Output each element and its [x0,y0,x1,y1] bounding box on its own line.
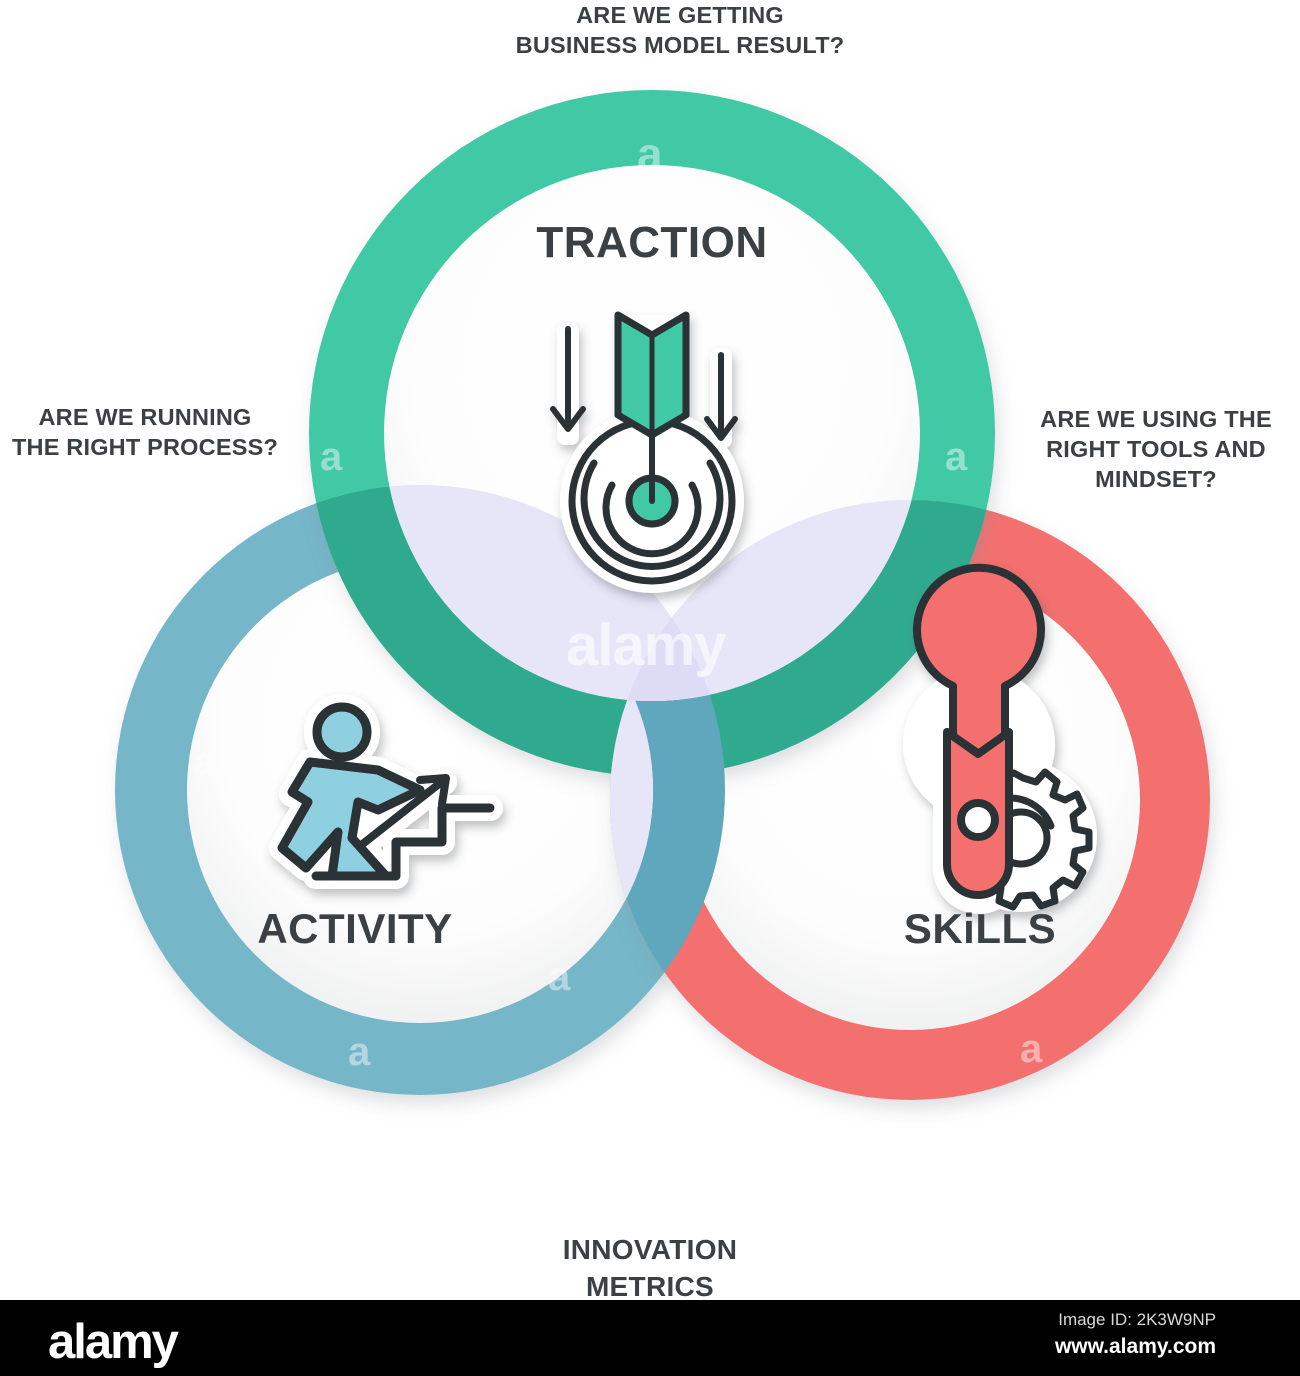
svg-text:a: a [548,955,571,999]
venn-diagram-page: a a a a a a a a a a a alamy [0,0,1300,1376]
venn-diagram-graphic: a a a a a a a a a a a alamy [0,0,1300,1300]
watermark-bar: alamy Image ID: 2K3W9NP www.alamy.com [0,1300,1300,1376]
svg-text:a: a [795,750,818,794]
svg-text:alamy: alamy [566,613,726,678]
callout-question-activity: ARE WE RUNNING THE RIGHT PROCESS? [0,402,290,462]
alamy-logo: alamy [48,1314,177,1370]
svg-text:a: a [348,1030,371,1074]
image-id-label: Image ID: 2K3W9NP [1058,1310,1216,1330]
circle-label-skills: SKiLLS [795,905,1165,953]
svg-text:a: a [637,128,663,180]
callout-question-skills: ARE WE USING THE RIGHT TOOLS AND MINDSET… [1012,404,1300,494]
callout-question-traction: ARE WE GETTING BUSINESS MODEL RESULT? [400,0,960,60]
svg-text:a: a [193,740,216,784]
svg-text:a: a [320,435,343,479]
svg-text:a: a [1020,1027,1043,1071]
svg-text:a: a [945,435,968,479]
svg-text:a: a [1105,755,1128,799]
circle-label-activity: ACTIVITY [155,905,555,953]
circle-label-traction: TRACTION [452,218,852,268]
diagram-footer-title: INNOVATION METRICS [0,1232,1300,1306]
alamy-url: www.alamy.com [1055,1335,1216,1359]
